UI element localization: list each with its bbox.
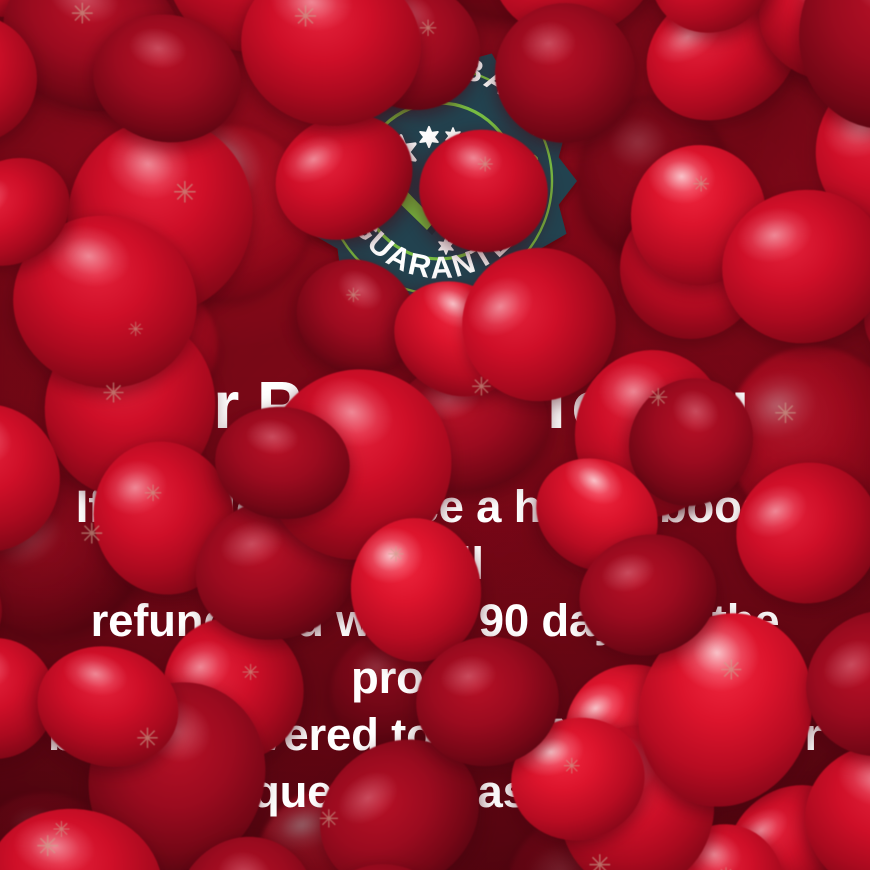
cranberry-calyx: ✳ — [718, 866, 734, 870]
promise-banner: ✳✳✳✳✳✳✳✳✳✳✳✳✳✳✳✳✳✳✳✳✳✳✳✳✳✳✳✳✳✳✳✳✳ — [0, 0, 870, 870]
cranberry-calyx: ✳ — [345, 287, 362, 307]
cranberry-calyx: ✳ — [172, 178, 197, 208]
cranberry-calyx: ✳ — [774, 400, 798, 428]
cranberry-calyx: ✳ — [241, 662, 260, 684]
cranberry-calyx: ✳ — [692, 175, 710, 197]
cranberry-calyx: ✳ — [36, 833, 60, 861]
cranberry-calyx: ✳ — [80, 521, 104, 550]
cranberry-calyx: ✳ — [293, 4, 317, 33]
cranberry-calyx: ✳ — [387, 546, 404, 567]
cranberry-calyx: ✳ — [477, 156, 494, 177]
cranberry-calyx: ✳ — [318, 809, 339, 834]
cranberry-calyx: ✳ — [144, 483, 163, 506]
cranberry-calyx: ✳ — [102, 380, 125, 407]
cranberry-calyx: ✳ — [563, 756, 581, 777]
cranberry-calyx: ✳ — [720, 656, 743, 683]
cranberry-calyx: ✳ — [471, 375, 492, 400]
cranberry-calyx: ✳ — [588, 851, 612, 870]
cranberry-calyx: ✳ — [648, 387, 668, 411]
cranberry-calyx: ✳ — [70, 1, 94, 30]
cranberry-calyx: ✳ — [419, 17, 438, 39]
cranberry-calyx: ✳ — [136, 725, 159, 753]
cranberry-calyx: ✳ — [128, 322, 144, 342]
